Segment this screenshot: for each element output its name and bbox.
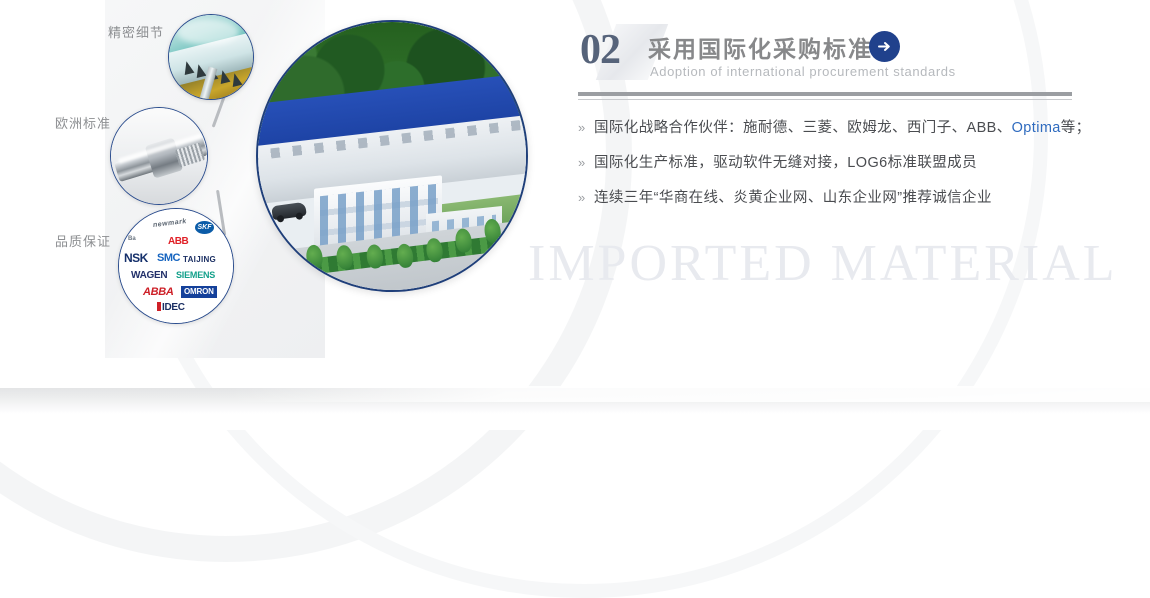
arrow-right-icon[interactable] — [869, 31, 900, 62]
chevron-bullet-icon: » — [578, 188, 594, 208]
header-divider — [578, 92, 1072, 96]
list-item-text-before: 国际化生产标准，驱动软件无缝对接，LOG6标准联盟成员 — [594, 155, 977, 171]
left-label-precision: 精密细节 — [108, 22, 164, 41]
logo-skf: SKF — [195, 221, 214, 234]
list-item: » 国际化战略合作伙伴：施耐德、三菱、欧姆龙、西门子、ABB、Optima等； — [578, 118, 1078, 138]
list-item-text-before: 连续三年“华商在线、炎黄企业网、山东企业网”推荐诚信企业 — [594, 190, 992, 206]
factory-photo — [256, 20, 528, 292]
list-item-highlight: Optima — [1012, 120, 1061, 136]
precision-detail-photo — [168, 14, 254, 100]
chevron-bullet-icon: » — [578, 118, 594, 138]
quality-brands-photo: newmark SKF Ba ABB NSK SMC TAIJING WAGEN… — [118, 208, 234, 324]
left-label-quality: 品质保证 — [55, 231, 111, 250]
logo-omron: OMRON — [181, 286, 217, 298]
header-divider-thin — [578, 99, 1072, 100]
logo-wagen: WAGEN — [131, 271, 167, 281]
logo-abb: ABB — [168, 237, 188, 247]
left-label-european: 欧洲标准 — [55, 113, 111, 132]
logo-abba: ABBA — [143, 287, 174, 298]
street-tree — [275, 244, 294, 270]
bullet-list: » 国际化战略合作伙伴：施耐德、三菱、欧姆龙、西门子、ABB、Optima等； … — [578, 118, 1078, 223]
list-item-text-before: 国际化战略合作伙伴：施耐德、三菱、欧姆龙、西门子、ABB、 — [594, 120, 1012, 136]
street-tree — [365, 244, 384, 270]
bottom-fade — [0, 414, 1150, 430]
street-tree — [454, 228, 473, 254]
list-item-text-after: 等； — [1061, 120, 1091, 136]
logo-ba: Ba — [128, 233, 136, 242]
chevron-bullet-icon: » — [578, 153, 594, 173]
logo-taijing: TAIJING — [183, 256, 216, 264]
list-item: » 连续三年“华商在线、炎黄企业网、山东企业网”推荐诚信企业 — [578, 188, 1078, 208]
logo-smc: SMC — [157, 253, 180, 264]
page-subtitle: Adoption of international procurement st… — [650, 64, 956, 79]
logo-idec-text: IDEC — [162, 302, 185, 313]
list-item-text: 国际化战略合作伙伴：施耐德、三菱、欧姆龙、西门子、ABB、Optima等； — [594, 118, 1091, 138]
street-tree — [425, 237, 444, 263]
bottom-gradient-highlight — [230, 386, 1150, 402]
logo-idec-bar — [157, 302, 161, 311]
european-standard-photo — [110, 107, 208, 205]
page-title: 采用国际化采购标准 — [648, 30, 873, 64]
teeth-highlight — [177, 19, 239, 45]
logo-siemens: SIEMENS — [176, 271, 215, 280]
list-item-text: 国际化生产标准，驱动软件无缝对接，LOG6标准联盟成员 — [594, 153, 977, 173]
street-tree — [396, 243, 415, 269]
watermark-text: IMPORTED MATERIAL — [528, 234, 1118, 293]
street-tree — [483, 218, 502, 244]
street-tree — [305, 244, 324, 270]
logo-ba-text: Ba — [128, 236, 136, 242]
list-item-text: 连续三年“华商在线、炎黄企业网、山东企业网”推荐诚信企业 — [594, 188, 992, 208]
street-tree — [335, 244, 354, 270]
logo-nsk: NSK — [124, 252, 148, 264]
list-item: » 国际化生产标准，驱动软件无缝对接，LOG6标准联盟成员 — [578, 153, 1078, 173]
logo-idec: IDEC — [157, 302, 185, 313]
section-number-text: 02 — [580, 26, 620, 74]
